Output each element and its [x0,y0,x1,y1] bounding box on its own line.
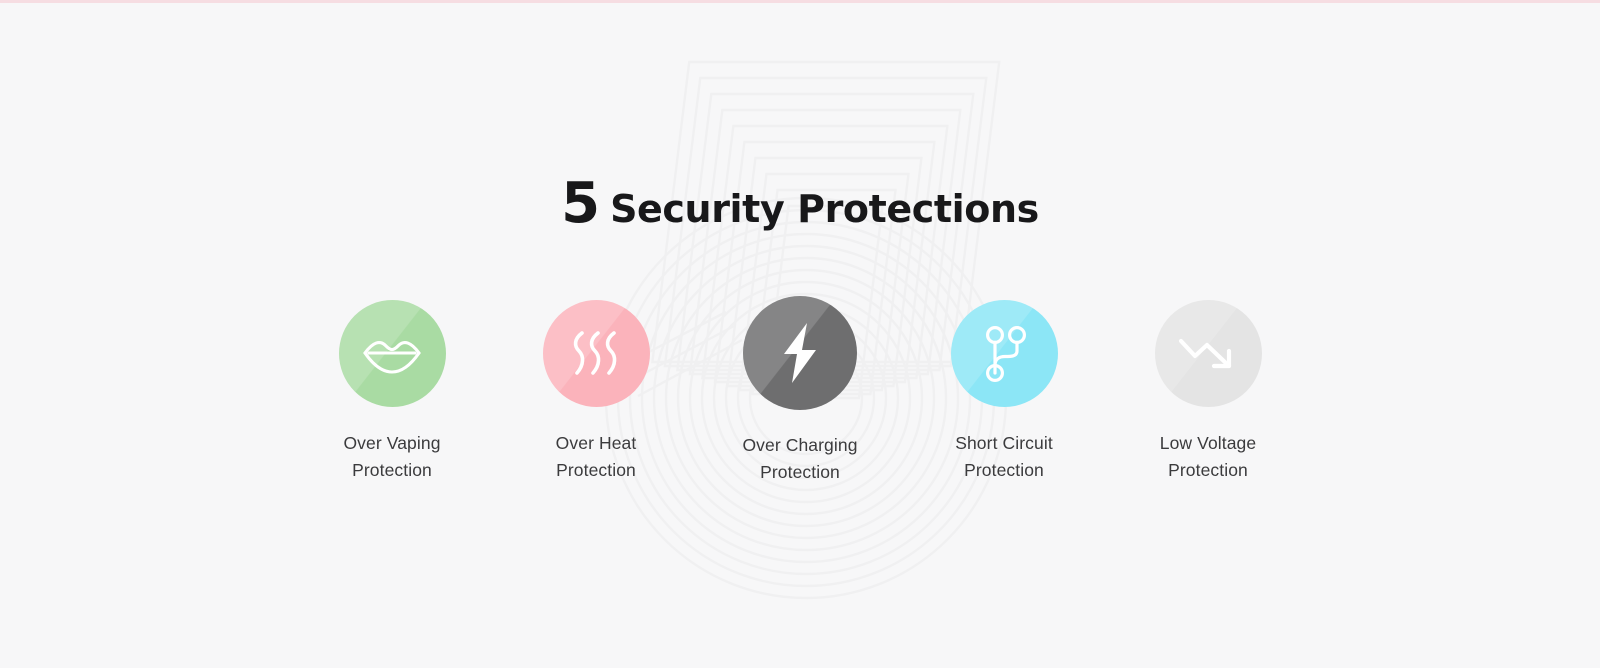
lightning-bolt-icon [780,322,820,384]
hero-banner: 5Security Protections Over Vaping Protec… [0,0,1600,668]
over-vaping-label-line1: Over Vaping [343,433,440,453]
page-title: 5Security Protections [0,171,1600,236]
heat-waves-icon [568,327,624,381]
short-circuit-badge[interactable] [951,300,1058,407]
over-heat-caption: Over Heat Protection [556,430,637,484]
over-heat-label-line2: Protection [556,457,637,484]
over-charging-badge[interactable] [743,296,857,410]
feature-over-charging[interactable]: Over Charging Protection [698,300,902,486]
over-vaping-label-line2: Protection [343,457,440,484]
short-circuit-label-line2: Protection [955,457,1053,484]
over-heat-badge[interactable] [543,300,650,407]
low-voltage-caption: Low Voltage Protection [1160,430,1256,484]
low-voltage-label-line2: Protection [1160,457,1256,484]
over-charging-label-line1: Over Charging [742,435,857,455]
feature-short-circuit[interactable]: Short Circuit Protection [902,300,1106,484]
over-heat-label-line1: Over Heat [556,433,637,453]
low-voltage-badge[interactable] [1155,300,1262,407]
over-vaping-badge[interactable] [339,300,446,407]
top-accent-rule [0,0,1600,3]
feature-low-voltage[interactable]: Low Voltage Protection [1106,300,1310,484]
title-text: Security Protections [610,187,1039,231]
over-vaping-caption: Over Vaping Protection [343,430,440,484]
title-number: 5 [561,171,599,236]
protection-features-row: Over Vaping Protection Over Heat Protect… [0,300,1600,486]
short-circuit-label-line1: Short Circuit [955,433,1053,453]
circuit-branch-icon [981,325,1027,383]
over-charging-caption: Over Charging Protection [742,432,857,486]
short-circuit-caption: Short Circuit Protection [955,430,1053,484]
over-charging-label-line2: Protection [742,459,857,486]
feature-over-vaping[interactable]: Over Vaping Protection [290,300,494,484]
lips-icon [362,331,422,377]
feature-over-heat[interactable]: Over Heat Protection [494,300,698,484]
trend-down-arrow-icon [1177,333,1239,375]
low-voltage-label-line1: Low Voltage [1160,433,1256,453]
